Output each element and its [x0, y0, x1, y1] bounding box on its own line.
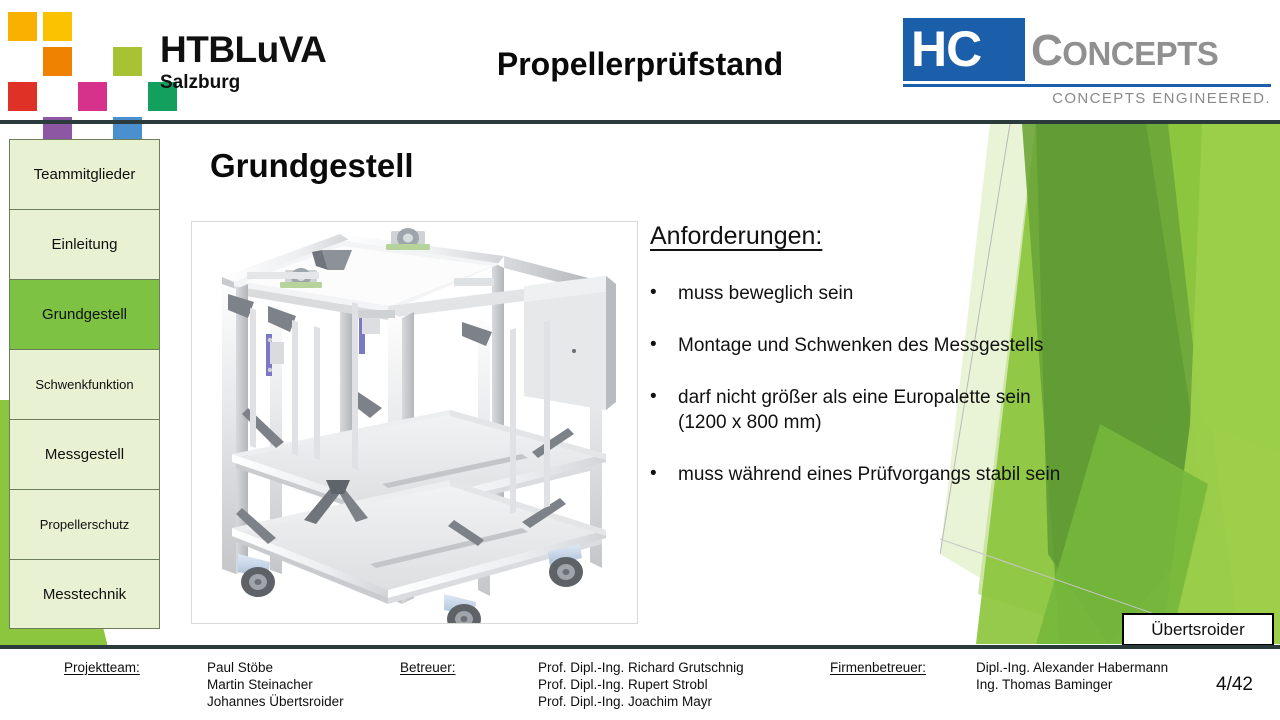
sidebar-item-label: Messgestell — [45, 446, 124, 463]
hc-concepts-logo: HC CONCEPTS CONCEPTS ENGINEERED. — [903, 18, 1271, 114]
sidebar-item-propellerschutz[interactable]: Propellerschutz — [9, 489, 160, 559]
htbluva-logo-name: HTBLuVA — [160, 30, 326, 70]
requirements-heading: Anforderungen: — [650, 222, 822, 251]
bullet-icon: • — [650, 281, 678, 305]
hc-logo-mark: HC — [911, 20, 1021, 78]
logo-square-0 — [8, 12, 37, 41]
slide-header: HTBLuVA Salzburg Propellerprüfstand HC C… — [0, 0, 1280, 124]
footer-company-supervisor-name: Ing. Thomas Baminger — [976, 676, 1168, 693]
slide-title: Grundgestell — [210, 147, 414, 185]
logo-square-1 — [43, 12, 72, 41]
sidebar-item-messgestell[interactable]: Messgestell — [9, 419, 160, 489]
footer-team-member: Martin Steinacher — [207, 676, 344, 693]
presenter-name-badge: Übertsroider — [1122, 613, 1274, 646]
sidebar-item-label: Einleitung — [52, 236, 118, 253]
footer-project-team-label: Projektteam: — [64, 660, 140, 675]
footer-company-supervisor-name: Dipl.-Ing. Alexander Habermann — [976, 659, 1168, 676]
htbluva-logo: HTBLuVA Salzburg — [8, 8, 358, 116]
presentation-slide: HTBLuVA Salzburg Propellerprüfstand HC C… — [0, 0, 1280, 720]
requirement-text: muss während eines Prüfvorgangs stabil s… — [678, 462, 1060, 487]
slide-footer: Projektteam: Paul StöbeMartin Steinacher… — [0, 649, 1280, 720]
sidebar-item-label: Grundgestell — [42, 306, 127, 323]
requirement-text: darf nicht größer als eine Europalette s… — [678, 385, 1031, 435]
sidebar-item-schwenkfunktion[interactable]: Schwenkfunktion — [9, 349, 160, 419]
sidebar-item-label: Propellerschutz — [40, 517, 130, 532]
bullet-icon: • — [650, 462, 678, 486]
footer-page-number: 4/42 — [1216, 674, 1253, 696]
hc-logo-tagline: CONCEPTS ENGINEERED. — [903, 90, 1271, 107]
sidebar-item-einleitung[interactable]: Einleitung — [9, 209, 160, 279]
footer-supervisor-name: Prof. Dipl.-Ing. Richard Grutschnig — [538, 659, 744, 676]
htbluva-logo-squares — [8, 12, 148, 116]
requirement-text: Montage und Schwenken des Messgestells — [678, 333, 1043, 358]
requirements-list: •muss beweglich sein•Montage und Schwenk… — [650, 281, 1140, 487]
footer-supervisor-name: Prof. Dipl.-Ing. Joachim Mayr — [538, 693, 744, 710]
sidebar-item-label: Schwenkfunktion — [35, 377, 133, 392]
bullet-icon: • — [650, 385, 678, 409]
logo-square-2 — [43, 47, 72, 76]
logo-square-4 — [8, 82, 37, 111]
electrical-cabinet — [524, 276, 616, 410]
sidebar-item-grundgestell[interactable]: Grundgestell — [9, 279, 160, 349]
footer-project-team-list: Paul StöbeMartin SteinacherJohannes Über… — [207, 659, 344, 710]
logo-square-5 — [78, 82, 107, 111]
sidebar-item-messtechnik[interactable]: Messtechnik — [9, 559, 160, 629]
htbluva-logo-text: HTBLuVA Salzburg — [160, 30, 326, 94]
slide-section-nav[interactable]: TeammitgliederEinleitungGrundgestellSchw… — [9, 139, 160, 629]
footer-team-member: Johannes Übertsroider — [207, 693, 344, 710]
sidebar-item-teammitglieder[interactable]: Teammitglieder — [9, 139, 160, 209]
cad-render-frame — [191, 221, 638, 624]
bullet-icon: • — [650, 333, 678, 357]
requirement-item: •muss beweglich sein — [650, 281, 1140, 306]
footer-team-member: Paul Stöbe — [207, 659, 344, 676]
hc-logo-wordmark: CONCEPTS — [1031, 24, 1218, 81]
footer-company-supervisor-list: Dipl.-Ing. Alexander HabermannIng. Thoma… — [976, 659, 1168, 693]
sidebar-item-label: Teammitglieder — [34, 166, 136, 183]
hc-logo-underline — [903, 84, 1271, 87]
requirement-item: •Montage und Schwenken des Messgestells — [650, 333, 1140, 358]
requirement-text: muss beweglich sein — [678, 281, 853, 306]
footer-supervisor-list: Prof. Dipl.-Ing. Richard GrutschnigProf.… — [538, 659, 744, 710]
cad-render-grundgestell — [192, 222, 638, 624]
footer-supervisor-name: Prof. Dipl.-Ing. Rupert Strobl — [538, 676, 744, 693]
requirement-item: •muss während eines Prüfvorgangs stabil … — [650, 462, 1140, 487]
htbluva-logo-city: Salzburg — [160, 72, 326, 94]
requirements-block: Anforderungen: •muss beweglich sein•Mont… — [650, 222, 1140, 514]
header-divider — [0, 120, 1280, 124]
presentation-title: Propellerprüfstand — [380, 46, 900, 83]
requirement-item: •darf nicht größer als eine Europalette … — [650, 385, 1140, 435]
bearing-block-1 — [386, 228, 430, 250]
footer-supervisor-label: Betreuer: — [400, 660, 456, 675]
logo-square-3 — [113, 47, 142, 76]
sidebar-item-label: Messtechnik — [43, 586, 126, 603]
footer-company-supervisor-label: Firmenbetreuer: — [830, 660, 926, 675]
